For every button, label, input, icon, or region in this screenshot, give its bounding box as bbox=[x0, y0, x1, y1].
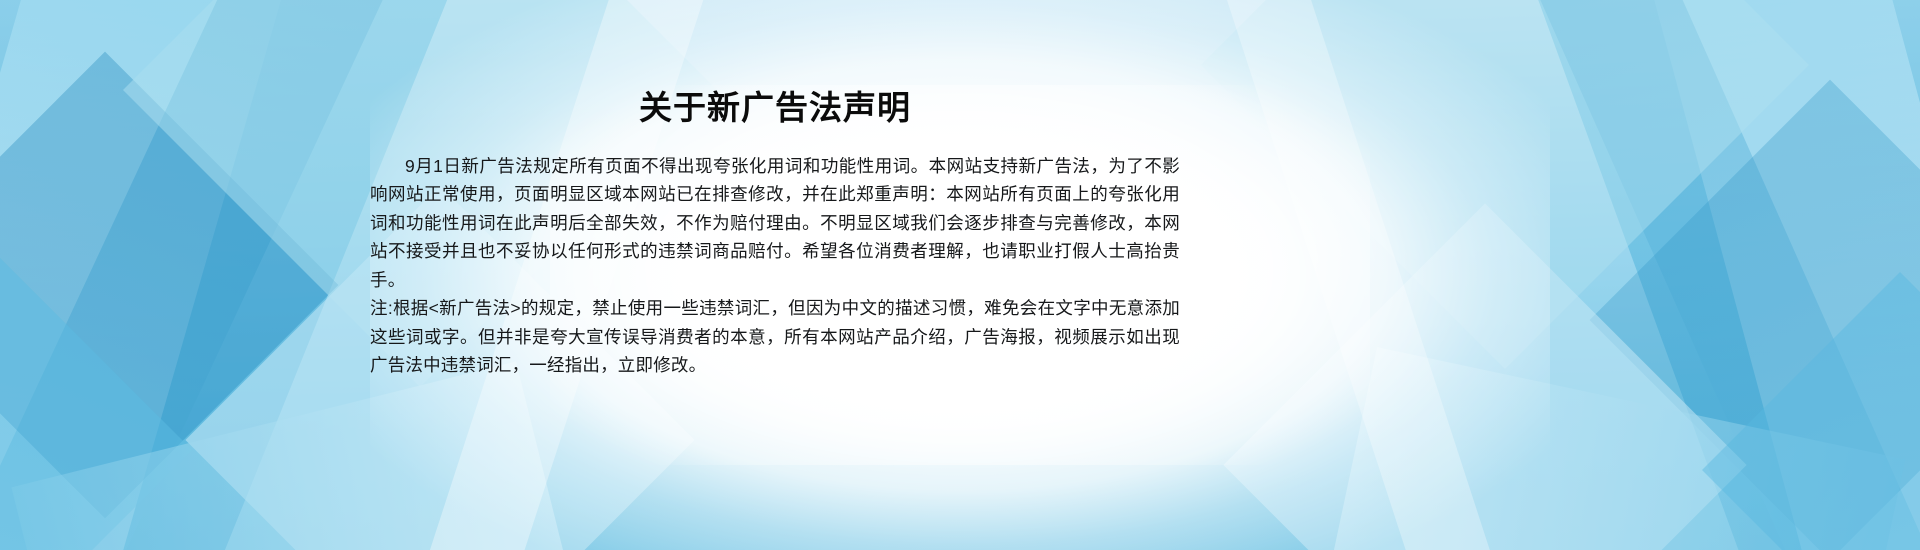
decorative-diamond-right-3 bbox=[1223, 203, 1746, 550]
decorative-diamond-right-1 bbox=[1590, 80, 1920, 550]
decorative-diagonal-band-right-4 bbox=[1315, 347, 1906, 550]
decorative-light-streak-right bbox=[1161, 0, 1558, 550]
page-title: 关于新广告法声明 bbox=[370, 88, 1180, 128]
statement-paragraph-main: 9月1日新广告法规定所有页面不得出现夸张化用词和功能性用词。本网站支持新广告法，… bbox=[370, 152, 1180, 295]
decorative-diamond-left-2 bbox=[0, 238, 192, 550]
statement-content: 关于新广告法声明 9月1日新广告法规定所有页面不得出现夸张化用词和功能性用词。本… bbox=[370, 0, 1180, 550]
decorative-diamond-left-1 bbox=[0, 52, 338, 519]
decorative-diamond-right-2 bbox=[1201, 0, 1809, 369]
statement-paragraph-note: 注:根据<新广告法>的规定，禁止使用一些违禁词汇，但因为中文的描述习惯，难免会在… bbox=[370, 294, 1180, 380]
decorative-diagonal-band-left-2 bbox=[0, 0, 340, 550]
decorative-diagonal-band-right-1 bbox=[1502, 0, 1920, 550]
decorative-diamond-right-4 bbox=[1702, 272, 1920, 550]
advertising-law-statement-banner: 关于新广告法声明 9月1日新广告法规定所有页面不得出现夸张化用词和功能性用词。本… bbox=[0, 0, 1920, 550]
decorative-diagonal-band-right-2 bbox=[1592, 0, 1920, 550]
decorative-diagonal-band-right-3 bbox=[1430, 0, 1920, 550]
